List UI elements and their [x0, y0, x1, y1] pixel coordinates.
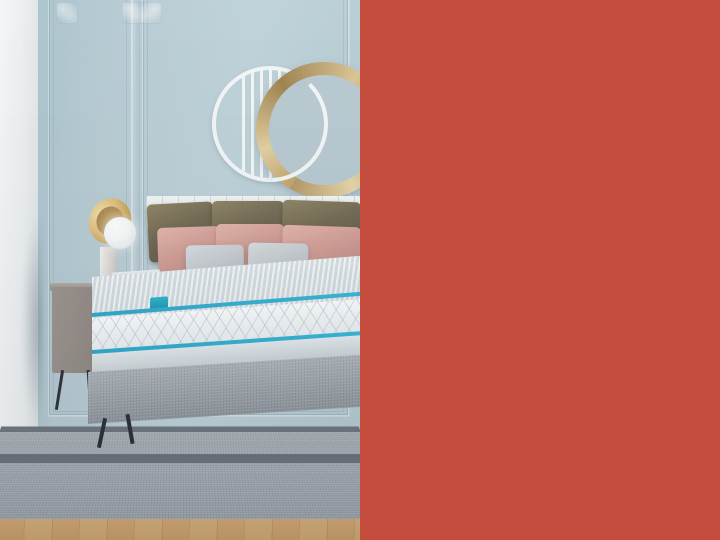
wall-shadow: [22, 215, 42, 435]
area-rug: [0, 427, 360, 519]
panel-corner-ornament-icon: [140, 2, 162, 24]
lamp-globe: [104, 217, 136, 249]
ad-creative: Ортопедическ ий средней жесткости Гарант…: [0, 0, 720, 540]
area-rug-border: [0, 454, 360, 463]
product-photo: [0, 0, 360, 540]
info-panel: Ортопедическ ий средней жесткости Гарант…: [360, 0, 720, 540]
panel-corner-ornament-icon: [56, 2, 78, 24]
